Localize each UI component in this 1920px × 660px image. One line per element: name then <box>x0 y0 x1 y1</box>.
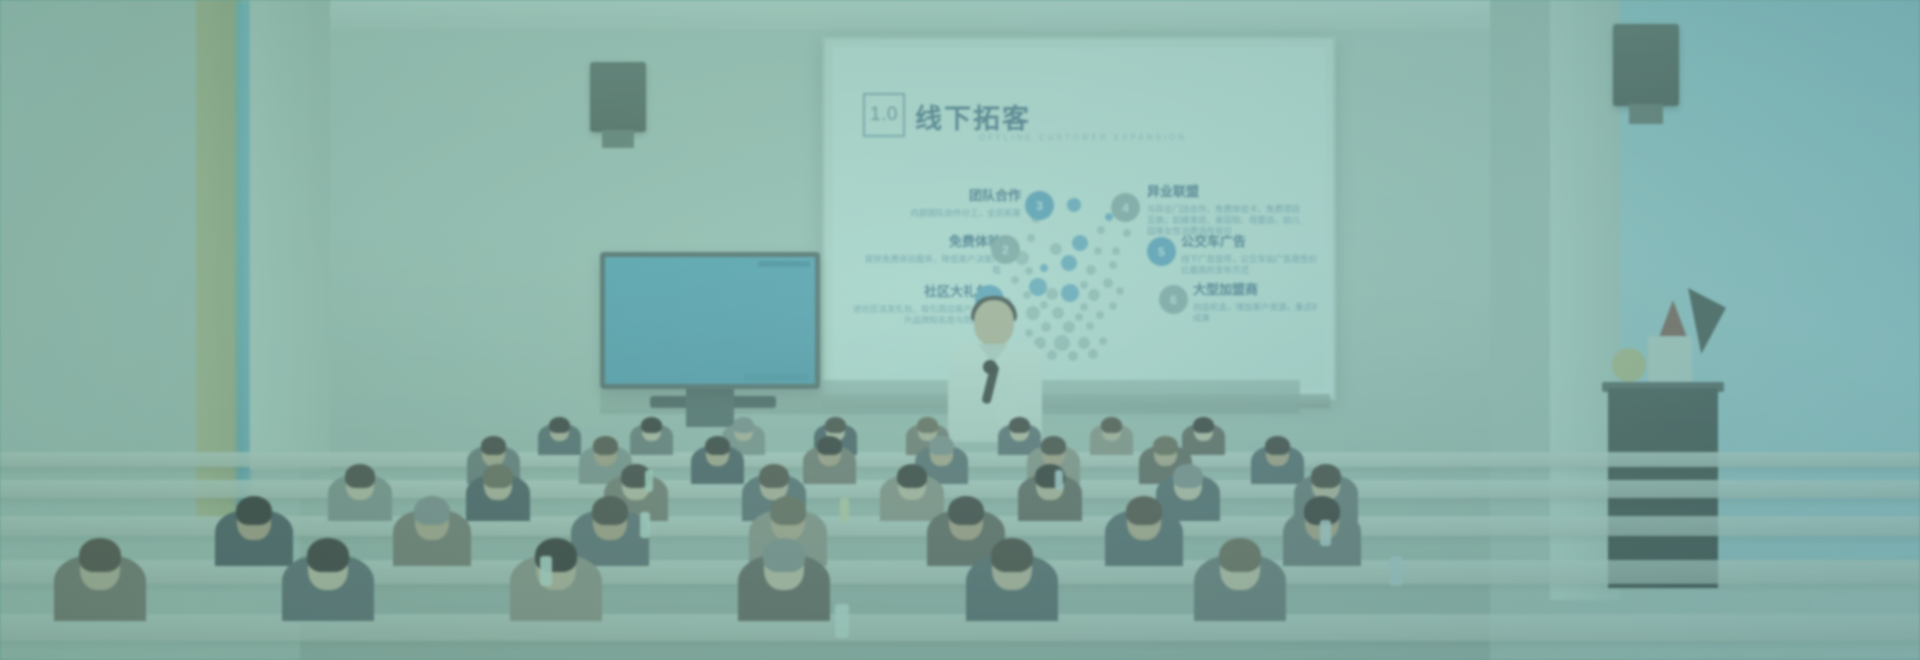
slide-item-title: 大型加盟商 <box>1193 279 1317 298</box>
audience-member-hair <box>1265 436 1290 455</box>
audience-member-hair <box>593 436 618 455</box>
monitor-logo <box>758 261 810 267</box>
display-monitor <box>600 252 820 389</box>
audience-member-hair <box>770 496 806 525</box>
audience-member-hair <box>948 496 984 525</box>
audience-member-hair <box>481 436 506 455</box>
monitor-buttons <box>744 374 808 381</box>
bubble-dot <box>1011 276 1019 284</box>
slide-item-2: 免费体验 提供免费体验服务，降低客户决策门槛 <box>861 231 1001 276</box>
bubble-dot <box>1061 255 1077 271</box>
bubble-dot <box>1078 337 1090 349</box>
bubble-dot <box>1029 278 1047 296</box>
audience-member-hair <box>1311 464 1341 488</box>
slide-subtitle: OFFLINE CUSTOMER EXPANSION <box>979 133 1187 142</box>
audience-member-hair <box>483 464 513 488</box>
audience-member-hair <box>1101 417 1122 433</box>
bubble-dot <box>1067 198 1081 212</box>
slide-item-5: 公交车广告 线下广告宣传，公交车站广告是性价比最高的发布方式 <box>1181 231 1317 276</box>
audience-member-hair <box>1041 436 1066 455</box>
audience-member-hair <box>641 417 662 433</box>
bubble-dot <box>1027 234 1035 242</box>
bubble-dot <box>1023 291 1031 299</box>
slide-item-desc: 提供免费体验服务，降低客户决策门槛 <box>861 254 1001 276</box>
slide-item-title: 团队合作 <box>881 185 1021 204</box>
desk-bottle <box>1320 520 1331 546</box>
audience-member-hair <box>1173 464 1203 488</box>
audience-member-hair <box>345 464 375 488</box>
presenter <box>940 300 1050 440</box>
bubble-dot <box>1099 337 1107 345</box>
slide-number-dot-4: 4 <box>1111 193 1140 222</box>
podium-globe <box>1612 348 1646 382</box>
bubble-dot <box>1080 303 1088 311</box>
slide-item-title: 公交车广告 <box>1181 231 1317 250</box>
desk-bottle <box>1390 556 1402 586</box>
bubble-dot <box>1068 351 1078 361</box>
audience-member-hair <box>236 496 272 525</box>
audience-member-hair <box>592 496 628 525</box>
slide-item-title: 异业联盟 <box>1147 181 1307 200</box>
light-strip <box>236 0 250 560</box>
bubble-dot <box>1052 307 1064 319</box>
bubble-dot <box>1103 278 1113 288</box>
monitor-screen <box>605 257 815 384</box>
audience-member-hair <box>763 538 805 572</box>
bubble-dot <box>1040 264 1048 272</box>
bubble-dot <box>1123 229 1131 237</box>
audience-member-hair <box>549 417 570 433</box>
slide-item-desc: 创造机会，增加客户资源，重点转化成果 <box>1193 302 1317 324</box>
bubble-dot <box>1094 247 1102 255</box>
audience-member-hair <box>759 464 789 488</box>
audience-member-hair <box>1126 496 1162 525</box>
audience-member-hair <box>1153 436 1178 455</box>
bubble-dot <box>1088 289 1100 301</box>
lecture-hall-photo: 1.0 线下拓客 OFFLINE CUSTOMER EXPANSION 团队合作… <box>0 0 1920 660</box>
slide-title: 线下拓客 <box>915 97 1031 136</box>
projection-surface: 1.0 线下拓客 OFFLINE CUSTOMER EXPANSION 团队合作… <box>833 47 1325 389</box>
bubble-dot <box>1086 265 1096 275</box>
microphone-head <box>983 360 997 374</box>
bubble-dot <box>1054 335 1070 351</box>
wall-speaker-right <box>1613 24 1679 106</box>
bubble-dot <box>1088 349 1098 359</box>
audience-member-hair <box>917 417 938 433</box>
presenter-head <box>974 300 1014 346</box>
monitor-stand <box>686 389 734 427</box>
audience-member-hair <box>897 464 927 488</box>
bubble-dot <box>1116 287 1124 295</box>
audience-member-hair <box>1193 417 1214 433</box>
audience-member-hair <box>929 436 954 455</box>
audience-member-hair <box>1219 538 1261 572</box>
bubble-dot <box>1063 321 1075 333</box>
audience-member-hair <box>991 538 1033 572</box>
slide-number-badge: 1.0 <box>863 93 905 137</box>
audience-member-hair <box>825 417 846 433</box>
desk-bottle <box>835 604 849 638</box>
bubble-dot <box>1109 302 1117 310</box>
bubble-dot <box>1075 313 1083 321</box>
bubble-dot <box>1097 226 1105 234</box>
slide-item-title: 免费体验 <box>861 231 1001 250</box>
slide-item-4: 异业联盟 与异业门店合作，免费体验卡、免费项目互换；如健身房、美容院、母婴店、幼… <box>1147 181 1307 237</box>
bubble-dot <box>1096 311 1104 319</box>
audience-member-hair <box>307 538 349 572</box>
audience-member-hair <box>1009 417 1030 433</box>
podium-box <box>1648 336 1692 384</box>
desk-bottle <box>540 556 552 586</box>
presentation-slide: 1.0 线下拓客 OFFLINE CUSTOMER EXPANSION 团队合作… <box>841 55 1317 381</box>
audience-member-hair <box>817 436 842 455</box>
bubble-dot <box>1086 322 1094 330</box>
bubble-dot <box>1112 247 1120 255</box>
desk-bottle <box>645 470 653 492</box>
bubble-dot <box>1080 281 1088 289</box>
slide-item-desc: 线下广告宣传，公交车站广告是性价比最高的发布方式 <box>1181 254 1317 276</box>
slide-item-desc: 内部团队协作分工，全员拓客 <box>881 208 1021 219</box>
projection-screen: 1.0 线下拓客 OFFLINE CUSTOMER EXPANSION 团队合作… <box>822 36 1336 400</box>
desk-bottle <box>640 512 650 538</box>
bubble-dot <box>1050 243 1062 255</box>
left-wall-column <box>250 0 330 470</box>
audience-member-hair <box>705 436 730 455</box>
audience-member-hair <box>733 417 754 433</box>
slide-item-3: 团队合作 内部团队协作分工，全员拓客 <box>881 185 1021 219</box>
slide-item-title: 社区大礼包 <box>845 281 989 300</box>
slide-number-dot-5: 5 <box>1147 237 1176 266</box>
screenshot-root: 1.0 线下拓客 OFFLINE CUSTOMER EXPANSION 团队合作… <box>0 0 1920 660</box>
desk-bottle <box>1055 470 1063 490</box>
slide-number-dot-6: 6 <box>1159 285 1188 314</box>
desk-bottle <box>840 498 849 522</box>
audience-member-hair <box>414 496 450 525</box>
slide-number-dot-3: 3 <box>1025 191 1054 220</box>
bubble-dot <box>1046 288 1058 300</box>
bubble-dot <box>1061 284 1079 302</box>
wall-speaker-left <box>590 62 646 132</box>
bubble-dot <box>1025 267 1033 275</box>
slide-item-6: 大型加盟商 创造机会，增加客户资源，重点转化成果 <box>1193 279 1317 324</box>
slide-number-dot-2: 2 <box>991 235 1020 264</box>
bubble-dot <box>1072 235 1088 251</box>
audience-member-hair <box>79 538 121 572</box>
bubble-dot <box>1109 261 1117 269</box>
